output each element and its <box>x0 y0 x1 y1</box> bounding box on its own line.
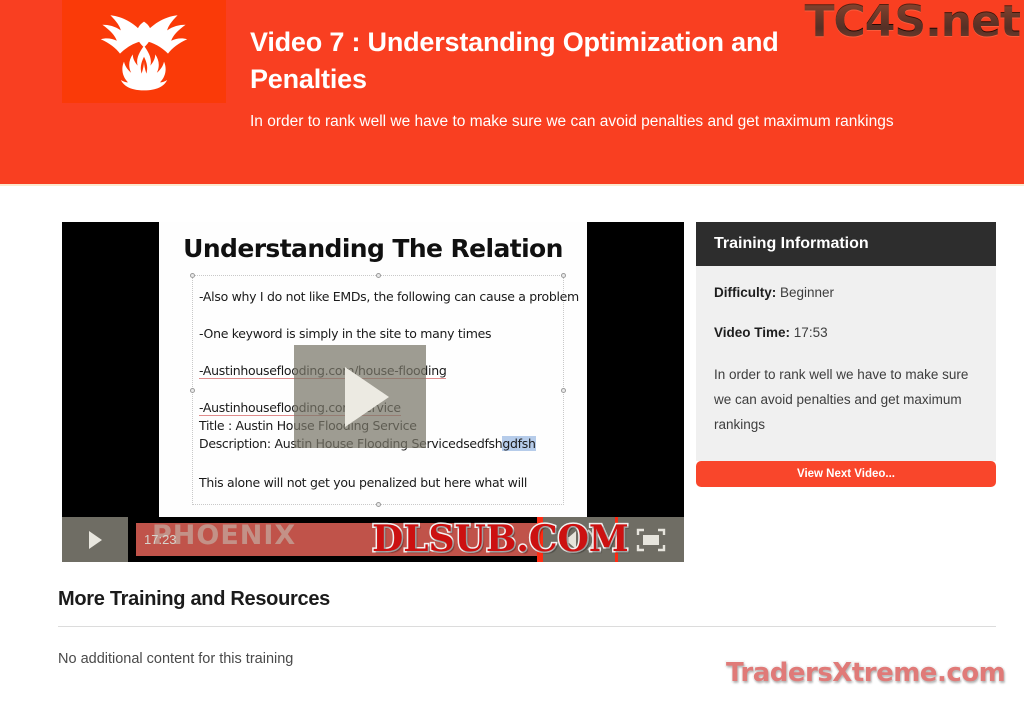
handle-bc <box>376 502 381 507</box>
difficulty-label: Difficulty: <box>714 285 776 300</box>
play-icon-small <box>89 531 102 549</box>
training-information-panel: Training Information Difficulty: Beginne… <box>696 222 996 461</box>
slide-line-6-highlight: gdfsh <box>502 436 535 451</box>
video-player[interactable]: Understanding The Relation -Also why I d… <box>62 222 684 562</box>
slide-line-7: This alone will not get you penalized bu… <box>199 475 527 490</box>
video-time-value: 17:53 <box>794 325 828 340</box>
fullscreen-icon <box>636 528 666 552</box>
difficulty-value: Beginner <box>780 285 834 300</box>
play-overlay-button[interactable] <box>294 345 426 448</box>
section-divider <box>58 626 996 627</box>
main-content: Understanding The Relation -Also why I d… <box>0 188 1024 704</box>
page-subtitle: In order to rank well we have to make su… <box>250 108 956 135</box>
slide-title: Understanding The Relation <box>159 234 587 263</box>
page-title: Video 7 : Understanding Optimization and… <box>250 24 870 98</box>
panel-body: Difficulty: Beginner Video Time: 17:53 I… <box>696 266 996 461</box>
slide-line-6-extra: dsedfsh <box>456 436 503 451</box>
volume-button[interactable] <box>540 517 618 562</box>
slide-line-1: -Also why I do not like EMDs, the follow… <box>199 289 579 304</box>
play-button[interactable] <box>62 517 128 562</box>
page-root: Video 7 : Understanding Optimization and… <box>0 0 1024 704</box>
volume-icon <box>561 528 597 552</box>
more-training-heading: More Training and Resources <box>58 588 330 611</box>
view-next-video-button[interactable]: View Next Video... <box>696 461 996 487</box>
phoenix-icon <box>96 10 192 94</box>
more-training-empty-text: No additional content for this training <box>58 651 293 667</box>
video-time-row: Video Time: 17:53 <box>714 322 978 344</box>
difficulty-row: Difficulty: Beginner <box>714 282 978 304</box>
handle-tc <box>376 273 381 278</box>
handle-tr <box>561 273 566 278</box>
progress-bar[interactable]: PHOENIX 17:23 <box>128 517 540 562</box>
play-icon <box>345 367 389 427</box>
video-time-label: Video Time: <box>714 325 790 340</box>
site-header: Video 7 : Understanding Optimization and… <box>0 0 1024 186</box>
progress-cursor <box>537 517 540 562</box>
training-description: In order to rank well we have to make su… <box>714 362 978 437</box>
slide-line-2: -One keyword is simply in the site to ma… <box>199 326 491 341</box>
handle-ml <box>190 388 195 393</box>
fullscreen-button[interactable] <box>618 517 684 562</box>
handle-tl <box>190 273 195 278</box>
current-time: 17:23 <box>144 532 177 547</box>
handle-mr <box>561 388 566 393</box>
site-logo[interactable] <box>62 0 226 103</box>
video-controls: PHOENIX 17:23 <box>62 517 684 562</box>
panel-title: Training Information <box>696 222 996 266</box>
